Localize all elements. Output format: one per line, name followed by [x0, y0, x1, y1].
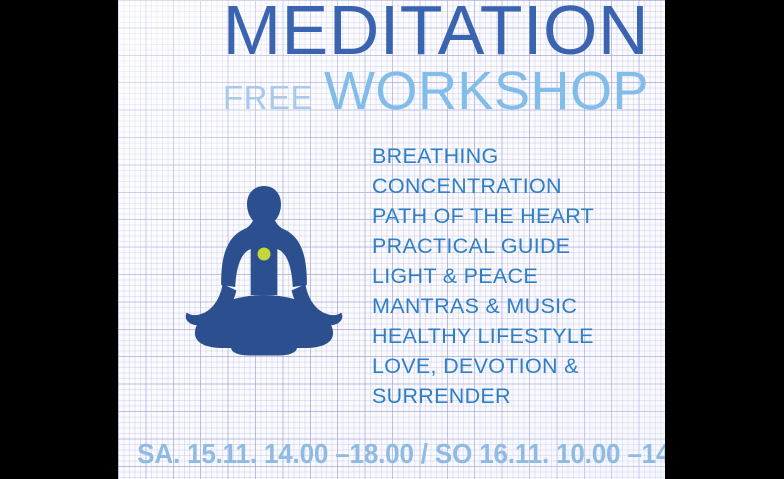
workshop-label: WORKSHOP — [324, 61, 649, 121]
topics-list: BREATHING CONCENTRATION PATH OF THE HEAR… — [372, 141, 594, 411]
poster-title: MEDITATION — [118, 0, 649, 70]
list-item: LOVE, DEVOTION & — [372, 351, 594, 381]
meditation-figure-icon — [164, 176, 364, 356]
letterbox-bar-left — [0, 0, 118, 479]
schedule-line: SA. 15.11. 14.00 –18.00 / SO 16.11. 10.0… — [137, 436, 646, 472]
list-item: PATH OF THE HEART — [372, 201, 594, 231]
letterbox-bar-right — [665, 0, 784, 479]
poster-canvas: MEDITATION FREEWORKSHOP — [118, 0, 665, 479]
list-item: LIGHT & PEACE — [372, 261, 594, 291]
list-item: MANTRAS & MUSIC — [372, 291, 594, 321]
list-item: SURRENDER — [372, 381, 594, 411]
poster-subtitle-row: FREEWORKSHOP — [118, 66, 649, 123]
list-item: HEALTHY LIFESTYLE — [372, 321, 594, 351]
list-item: PRACTICAL GUIDE — [372, 231, 594, 261]
poster-frame: MEDITATION FREEWORKSHOP — [0, 0, 784, 479]
chakra-dot — [258, 248, 271, 261]
free-label: FREE — [223, 79, 313, 116]
list-item: BREATHING — [372, 141, 594, 171]
list-item: CONCENTRATION — [372, 171, 594, 201]
